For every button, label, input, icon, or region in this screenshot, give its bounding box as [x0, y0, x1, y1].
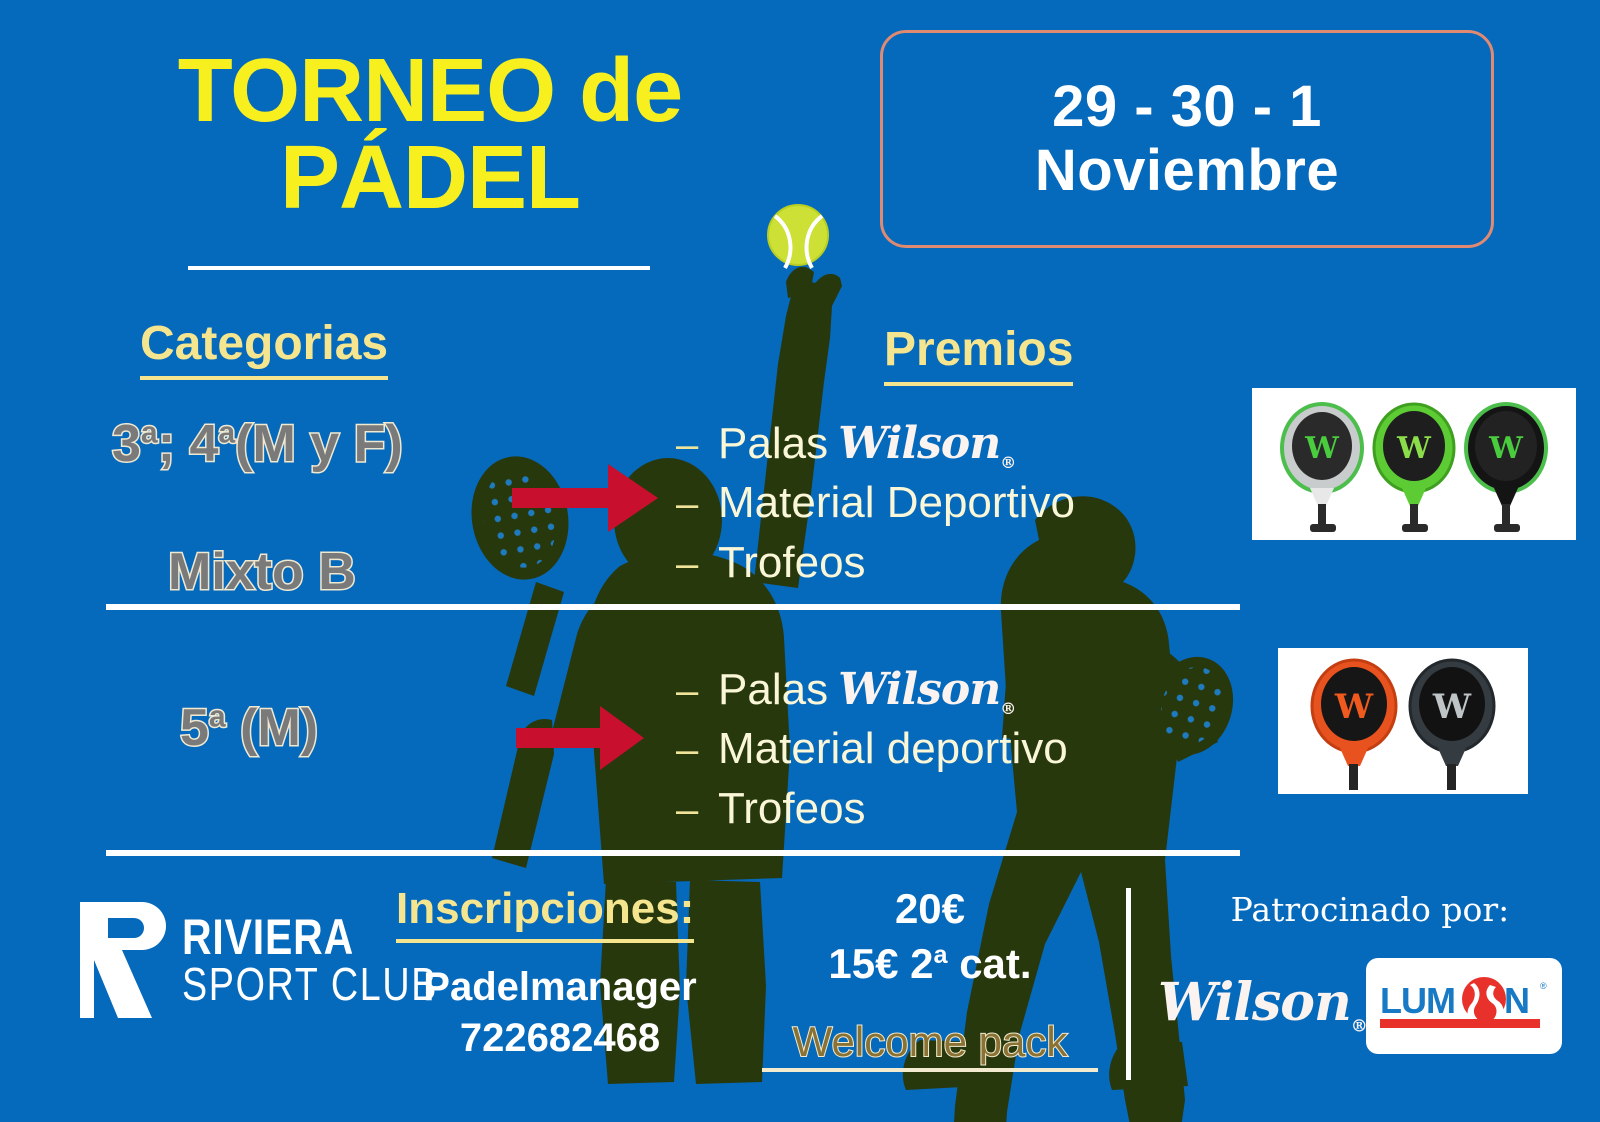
- list-dash: –: [676, 783, 718, 837]
- prize-row: – Palas Wilson®: [676, 660, 1068, 719]
- categories-heading: Categorias: [140, 316, 388, 380]
- date-month: Noviembre: [1035, 139, 1339, 203]
- prize-label: Trofeos: [718, 779, 866, 838]
- category-item-2: Mixto B: [168, 542, 356, 602]
- sponsor-divider: [1126, 888, 1131, 1080]
- title-line-1: TORNEO de: [120, 48, 740, 135]
- prize-row: – Palas Wilson®: [676, 414, 1075, 473]
- riviera-r-mark-icon: [74, 896, 166, 1024]
- svg-text:W: W: [1432, 687, 1472, 727]
- registered-mark: ®: [1000, 699, 1015, 718]
- prize-list-upper: – Palas Wilson® – Material Deportivo – T…: [676, 414, 1075, 592]
- wilson-logo-text: Wilson®: [838, 414, 1015, 473]
- list-dash: –: [676, 477, 718, 531]
- wilson-rackets-3: W W W: [1264, 400, 1564, 540]
- lumon-sponsor-logo: LUM N ®: [1366, 958, 1562, 1054]
- registration-platform: Padelmanager: [400, 962, 720, 1013]
- svg-text:W: W: [1334, 687, 1374, 727]
- svg-text:®: ®: [1540, 981, 1547, 991]
- list-dash: –: [676, 418, 718, 472]
- prize-label: Palas: [718, 414, 828, 473]
- price-main: 20€: [762, 882, 1098, 937]
- ordinal-a: a: [218, 417, 235, 450]
- welcome-pack-label: Welcome pack: [762, 1018, 1098, 1072]
- price-second-category: 15€ 2a cat.: [762, 937, 1098, 992]
- svg-text:W: W: [1304, 431, 1340, 466]
- list-dash: –: [676, 537, 718, 591]
- category-item-3: 5a (M): [180, 698, 318, 758]
- registration-phone[interactable]: 722682468: [400, 1013, 720, 1064]
- prize-label: Palas: [718, 660, 828, 719]
- prize-row: – Material Deportivo: [676, 473, 1075, 532]
- category-item-1: 3a; 4a(M y F): [112, 414, 403, 474]
- racket-photo-upper: W W W: [1252, 388, 1576, 540]
- prize-label: Material deportivo: [718, 719, 1068, 778]
- prize-row: – Trofeos: [676, 533, 1075, 592]
- wilson-rackets-2: W W: [1292, 658, 1514, 794]
- date-days: 29 - 30 - 1: [1035, 75, 1339, 139]
- tennis-ball-icon: [768, 205, 828, 268]
- svg-text:LUM: LUM: [1380, 980, 1455, 1021]
- list-dash: –: [676, 723, 718, 777]
- svg-text:N: N: [1504, 980, 1530, 1021]
- list-dash: –: [676, 664, 718, 718]
- prize-label: Material Deportivo: [718, 473, 1075, 532]
- prize-row: – Trofeos: [676, 779, 1068, 838]
- registration-heading: Inscripciones:: [396, 884, 694, 943]
- pricing-block: 20€ 15€ 2a cat.: [762, 882, 1098, 991]
- page-title: TORNEO de PÁDEL: [120, 48, 740, 223]
- arrow-right-icon-lower: [516, 700, 646, 776]
- prize-label: Trofeos: [718, 533, 866, 592]
- wilson-sponsor-logo: Wilson®: [1158, 972, 1358, 1036]
- prizes-heading: Premios: [884, 322, 1073, 386]
- registration-info: Padelmanager 722682468: [400, 962, 720, 1064]
- svg-text:W: W: [1396, 431, 1432, 466]
- ordinal-a: a: [934, 941, 948, 969]
- racket-photo-lower: W W: [1278, 648, 1528, 794]
- ordinal-a: a: [209, 701, 226, 734]
- arrow-right-icon-upper: [512, 456, 660, 540]
- racket-holes-right: [1151, 659, 1233, 754]
- lumon-wordmark-icon: LUM N ®: [1376, 969, 1552, 1043]
- registered-mark: ®: [1351, 1016, 1367, 1036]
- title-underline: [188, 266, 650, 270]
- title-line-2: PÁDEL: [120, 135, 740, 222]
- sponsor-heading: Patrocinado por:: [1160, 890, 1580, 929]
- wilson-logo-text: Wilson®: [838, 660, 1015, 719]
- svg-text:W: W: [1488, 431, 1524, 466]
- registered-mark: ®: [1000, 453, 1015, 472]
- prize-row: – Material deportivo: [676, 719, 1068, 778]
- divider-lower: [106, 850, 1240, 856]
- divider-upper: [106, 604, 1240, 610]
- tournament-poster: TORNEO de PÁDEL 29 - 30 - 1 Noviembre Ca…: [0, 0, 1600, 1122]
- date-box: 29 - 30 - 1 Noviembre: [880, 30, 1494, 248]
- prize-list-lower: – Palas Wilson® – Material deportivo – T…: [676, 660, 1068, 838]
- ordinal-a: a: [141, 417, 158, 450]
